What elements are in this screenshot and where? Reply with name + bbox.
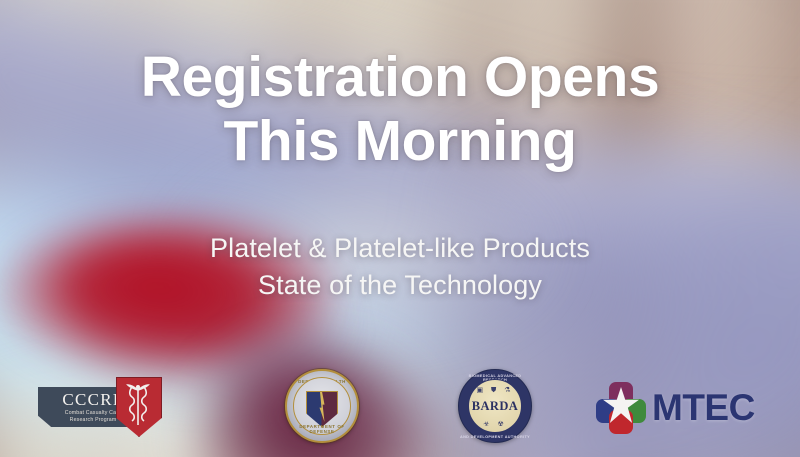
barda-emblem-icons-top: ▣ ⛊ ⚗ [459, 386, 531, 395]
barda-ring-text-bottom: AND DEVELOPMENT AUTHORITY [459, 435, 531, 439]
logo-mtec: MTEC [596, 379, 756, 435]
logo-cccrp: CCCRP Combat Casualty Care Research Prog… [38, 373, 178, 439]
cccrp-subtitle: Combat Casualty Care Research Program [65, 410, 121, 423]
barda-wordmark: BARDA [472, 399, 518, 414]
logo-barda: BIOMEDICAL ADVANCED RESEARCH AND DEVELOP… [458, 369, 532, 443]
cccrp-acronym: CCCRP [62, 391, 123, 408]
mtec-wordmark: MTEC [652, 389, 755, 426]
mtec-star-icon [596, 382, 646, 432]
sponsor-logo-row: CCCRP Combat Casualty Care Research Prog… [0, 361, 800, 449]
logo-defense-health-agency: DEFENSE HEALTH AGENCY DEPARTMENT OF DEFE… [285, 369, 359, 443]
dha-seal-ring: DEFENSE HEALTH AGENCY DEPARTMENT OF DEFE… [285, 369, 359, 443]
barda-emblem-icons-bottom: ☣ ☢ [459, 420, 531, 428]
slide-text-block: Registration Opens This Morning Platelet… [0, 0, 800, 304]
barda-seal-ring: BIOMEDICAL ADVANCED RESEARCH AND DEVELOP… [458, 369, 532, 443]
presentation-slide: Registration Opens This Morning Platelet… [0, 0, 800, 457]
caduceus-icon [126, 383, 150, 429]
slide-subtitle: Platelet & Platelet-like Products State … [0, 174, 800, 305]
slide-headline: Registration Opens This Morning [0, 0, 800, 174]
dha-ring-text-bottom: DEPARTMENT OF DEFENSE [287, 424, 357, 434]
